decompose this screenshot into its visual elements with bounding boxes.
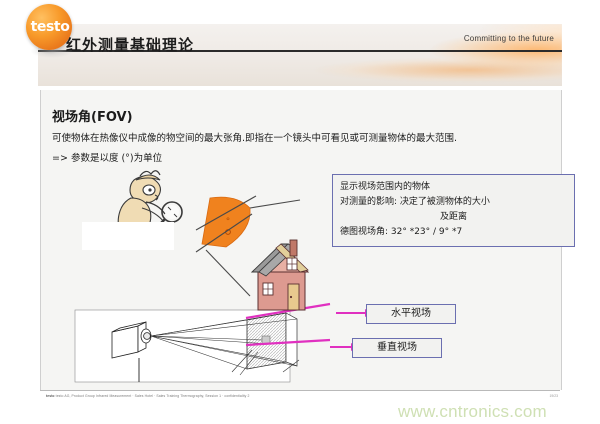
arrow-to-horizontal-fov bbox=[336, 312, 366, 314]
body-paragraph-2: => 参数是以度 (°)为单位 bbox=[52, 150, 162, 164]
footer-brand: testo bbox=[46, 394, 55, 398]
callout-box: 显示视场范围内的物体 对测量的影响: 决定了被测物体的大小 及距离 德图视场角:… bbox=[332, 174, 575, 247]
label-horizontal-fov: 水平视场 bbox=[366, 304, 456, 324]
callout-line-2: 对测量的影响: 决定了被测物体的大小 bbox=[340, 195, 567, 210]
label-vertical-fov: 垂直视场 bbox=[352, 338, 442, 358]
section-heading: 视场角(FOV) bbox=[52, 106, 133, 125]
footer-page-number: 2 bbox=[248, 394, 250, 398]
site-watermark: www.cntronics.com bbox=[398, 402, 547, 422]
callout-line-1: 显示视场范围内的物体 bbox=[340, 180, 567, 195]
slide-title: 红外测量基础理论 bbox=[66, 34, 194, 55]
arrow-to-vertical-fov bbox=[330, 346, 352, 348]
slide-index: 19/23 bbox=[550, 394, 559, 398]
redacted-white-box bbox=[82, 222, 174, 250]
body-paragraph-1: 可使物体在热像仪中成像的物空间的最大张角.即指在一个镜头中可看见或可测量物体的最… bbox=[52, 130, 457, 144]
callout-line-4: 德图视场角: 32° *23° / 9° *7 bbox=[340, 225, 567, 240]
footer-divider bbox=[40, 390, 560, 391]
footer-detail: testo AG, Product Group Infrared Measure… bbox=[56, 394, 247, 398]
slide-canvas: Committing to the future testo 红外测量基础理论 … bbox=[0, 0, 600, 424]
footer-text: testo testo AG, Product Group Infrared M… bbox=[46, 394, 250, 398]
callout-line-3: 及距离 bbox=[340, 210, 567, 225]
header-tagline: Committing to the future bbox=[464, 34, 554, 43]
